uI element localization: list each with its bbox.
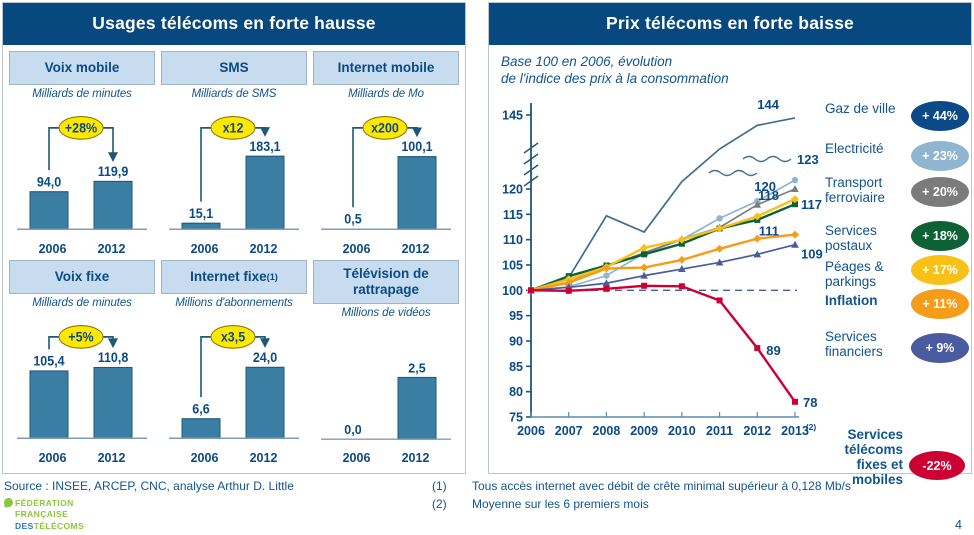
legend-badge: + 11% [911, 289, 969, 319]
series-end-label: 123 [797, 152, 819, 167]
series-end-label: 109 [801, 247, 823, 262]
year-label: 2012 [402, 242, 430, 256]
bar-value-label: 0,5 [344, 211, 361, 227]
bar-chart-title: Télévision de rattrapage [313, 260, 459, 304]
bar-value-label: 2,5 [408, 361, 425, 375]
footer: Source : INSEE, ARCEP, CNC, analyse Arth… [0, 476, 974, 535]
bar-chart-plot: 0,5100,1x200 [313, 102, 459, 240]
series-end-label: 117 [801, 197, 822, 212]
bar-chart-year-axis: 20062012 [313, 240, 459, 256]
bar [398, 157, 436, 230]
prix-panel: Prix télécoms en forte baisse Base 100 e… [488, 2, 972, 474]
series-mid-label: 89 [766, 343, 780, 358]
series-line [531, 286, 795, 402]
legend-label: Services postaux [825, 223, 903, 253]
growth-badge-label: x200 [371, 120, 399, 136]
legend-label: Electricité [825, 141, 903, 156]
y-tick-label: 85 [509, 360, 523, 374]
bar-chart-grid: Voix mobileMilliards de minutes94,0119,9… [3, 45, 465, 469]
x-tick-label: 2006 [517, 424, 545, 438]
x-tick-label: 2009 [630, 424, 658, 438]
bar-value-label: 6,6 [192, 401, 209, 417]
line-chart-body: Base 100 en 2006, évolution de l'indice … [489, 45, 971, 469]
bar [94, 181, 132, 229]
y-tick-label: 80 [509, 385, 523, 399]
bar [94, 368, 132, 439]
legend-row: Gaz de ville [825, 101, 903, 116]
legend-label: Transport ferroviaire [825, 175, 903, 205]
title-footnote-marker: (1) [267, 272, 278, 283]
growth-badge-label: +5% [68, 329, 94, 345]
bar-chart-cell: Internet mobileMilliards de Mo0,5100,1x2… [313, 51, 459, 256]
bar-value-label: 119,9 [98, 164, 129, 180]
bar-value-label: 0,0 [344, 423, 361, 437]
x-tick-label: 2011 [706, 424, 733, 438]
y-tick-label: 105 [502, 259, 523, 273]
year-label: 2006 [191, 242, 219, 256]
bar-chart-title: Voix fixe [9, 260, 155, 294]
series-end-label: 144 [757, 97, 779, 112]
growth-badge-label: x12 [223, 120, 244, 136]
footnote-text: Moyenne sur les 6 premiers mois [472, 497, 649, 511]
footnote-item: (2)Moyenne sur les 6 premiers mois [432, 497, 851, 511]
bar-value-label: 100,1 [401, 139, 432, 155]
footnote-list: (1)Tous accès internet avec débit de crê… [432, 479, 851, 515]
bar-value-label: 15,1 [189, 205, 213, 221]
year-label: 2006 [191, 451, 219, 465]
bar-chart-unit: Millions de vidéos [313, 304, 459, 319]
bar-chart-cell: Internet fixe(1)Millions d'abonnements6,… [161, 260, 307, 465]
legend-row: Péages & parkings [825, 259, 903, 289]
legend-badge: + 17% [911, 255, 969, 285]
footnote-number: (2) [432, 497, 472, 511]
year-label: 2006 [39, 242, 67, 256]
legend-label: Gaz de ville [825, 101, 903, 116]
chart-series [528, 283, 798, 405]
year-label: 2006 [39, 451, 67, 465]
bar-value-label: 183,1 [249, 138, 280, 154]
growth-callout: +28% [49, 117, 118, 171]
bar-chart-plot: 15,1183,1x12 [161, 102, 307, 240]
growth-badge-label: +28% [65, 120, 98, 136]
logo-line-1: FÉDÉRATION [4, 498, 84, 509]
y-tick-label: 90 [509, 335, 523, 349]
bar-chart-cell: Voix fixeMilliards de minutes105,4110,8+… [9, 260, 155, 465]
legend-badge: + 20% [911, 177, 969, 207]
x-tick-label: 2013 [781, 424, 809, 438]
bar [246, 367, 284, 438]
bar [30, 192, 68, 229]
footnote-text: Tous accès internet avec débit de crête … [472, 479, 851, 493]
growth-callout: +5% [49, 326, 118, 350]
legend-row: Electricité [825, 141, 903, 156]
year-label: 2006 [343, 242, 371, 256]
y-tick-label: 95 [509, 309, 523, 323]
bar-chart-year-axis: 20062012 [313, 449, 459, 465]
legend-label: Péages & parkings [825, 259, 903, 289]
bar-chart-year-axis: 20062012 [9, 449, 155, 465]
bar-chart-title: Voix mobile [9, 51, 155, 85]
bar-chart-unit: Milliards de minutes [9, 294, 155, 309]
legend-row: Services postaux [825, 223, 903, 253]
year-label: 2012 [98, 451, 126, 465]
bar-chart-unit: Milliards de Mo [313, 85, 459, 100]
prix-panel-title: Prix télécoms en forte baisse [489, 3, 971, 45]
bar-chart-cell: Voix mobileMilliards de minutes94,0119,9… [9, 51, 155, 256]
legend-label: Inflation [825, 293, 903, 308]
ff-telecoms-logo: FÉDÉRATION FRANÇAISE DESTÉLÉCOMS [4, 498, 84, 532]
y-tick-label: 100 [502, 284, 523, 298]
bar-chart-plot: 6,624,0x3,5 [161, 311, 307, 449]
bar-chart-cell: Télévision de rattrapageMillions de vidé… [313, 260, 459, 465]
legend-label: Services financiers [825, 329, 903, 359]
series-end-label: 118 [758, 188, 779, 203]
bar-chart-cell: SMSMilliards de SMS15,1183,1x1220062012 [161, 51, 307, 256]
bar-value-label: 110,8 [98, 350, 129, 366]
bar-chart-plot: 105,4110,8+5% [9, 311, 155, 449]
x-tick-label: 2007 [555, 424, 583, 438]
chart-legend: Gaz de ville+ 44%Electricité+ 23%Transpo… [825, 97, 973, 467]
legend-row: Inflation [825, 293, 903, 308]
year-label: 2012 [250, 451, 278, 465]
year-label: 2006 [343, 451, 371, 465]
bar-chart-unit: Millions d'abonnements [161, 294, 307, 309]
x-tick-label: 2008 [593, 424, 621, 438]
y-tick-label: 145 [502, 109, 523, 123]
bar [398, 377, 436, 439]
logo-line-3: DESTÉLÉCOMS [4, 521, 84, 532]
bar-value-label: 94,0 [37, 174, 61, 190]
series-end-label: 111 [759, 224, 779, 239]
bar-chart-year-axis: 20062012 [161, 449, 307, 465]
bar [246, 156, 284, 229]
bar [182, 223, 220, 229]
footnote-number: (1) [432, 479, 472, 493]
source-note: Source : INSEE, ARCEP, CNC, analyse Arth… [4, 479, 294, 493]
x-tick-label: 2012 [743, 424, 771, 438]
legend-row: Services financiers [825, 329, 903, 359]
legend-row: Transport ferroviaire [825, 175, 903, 205]
bar-chart-year-axis: 20062012 [161, 240, 307, 256]
bar-value-label: 105,4 [33, 353, 65, 369]
series-end-label: 78 [803, 395, 817, 410]
y-tick-label: 75 [509, 411, 523, 425]
x-axis-footnote-marker: (2) [806, 422, 817, 432]
bar-chart-unit: Milliards de minutes [9, 85, 155, 100]
y-tick-label: 110 [503, 233, 523, 247]
year-label: 2012 [250, 242, 278, 256]
legend-badge: + 9% [911, 333, 969, 363]
usages-panel: Usages télécoms en forte hausse Voix mob… [2, 2, 466, 474]
footnote-item: (1)Tous accès internet avec débit de crê… [432, 479, 851, 493]
bar [30, 371, 68, 438]
leaf-icon [3, 497, 13, 507]
logo-line-2: FRANÇAISE [4, 509, 84, 520]
line-break-squiggle [709, 157, 791, 176]
year-label: 2012 [98, 242, 126, 256]
legend-badge: + 44% [911, 101, 969, 131]
chart-series [527, 195, 799, 294]
bar-chart-plot: 0,02,5 [313, 321, 459, 449]
bar-chart-plot: 94,0119,9+28% [9, 102, 155, 240]
bar-chart-title: SMS [161, 51, 307, 85]
bar-value-label: 24,0 [253, 349, 277, 365]
slide: Usages télécoms en forte hausse Voix mob… [0, 0, 974, 535]
y-tick-label: 115 [503, 208, 523, 222]
page-number: 4 [955, 518, 962, 532]
bar-chart-unit: Milliards de SMS [161, 85, 307, 100]
year-label: 2012 [402, 451, 430, 465]
price-index-line-chart: 7580859095100105110115120145200620072008… [489, 45, 829, 469]
chart-series [527, 231, 799, 295]
legend-badge: + 18% [911, 221, 969, 251]
y-tick-label: 120 [502, 183, 523, 197]
bar-chart-year-axis: 20062012 [9, 240, 155, 256]
x-tick-label: 2010 [668, 424, 696, 438]
usages-panel-title: Usages télécoms en forte hausse [3, 3, 465, 45]
bar [182, 419, 220, 439]
bar-chart-title: Internet fixe(1) [161, 260, 307, 294]
bar-chart-title: Internet mobile [313, 51, 459, 85]
growth-badge-label: x3,5 [221, 329, 245, 345]
legend-badge: + 23% [911, 141, 969, 171]
